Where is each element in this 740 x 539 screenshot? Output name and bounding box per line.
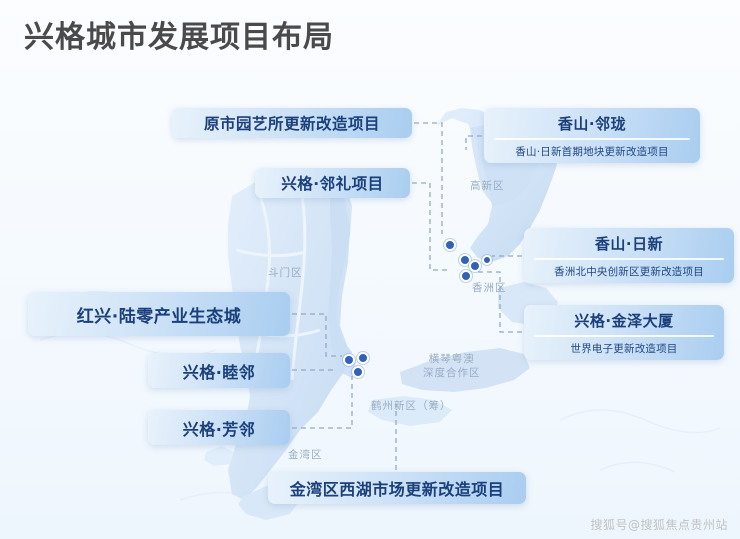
- project-label-title: 香山·日新: [534, 233, 724, 258]
- region-label-xiangzhou: 香洲区: [472, 280, 507, 295]
- project-label-title: 兴格·金泽大厦: [534, 310, 714, 335]
- project-label-title: 兴格·邻礼项目: [281, 172, 383, 194]
- project-label-xiangshan-rixin[interactable]: 香山·日新 香洲北中央创新区更新改造项目: [524, 228, 734, 283]
- region-label-hengqin-line1: 横琴粤澳: [423, 352, 481, 366]
- project-label-hongxing-luling[interactable]: 红兴·陆零产业生态城: [28, 292, 290, 336]
- map-marker[interactable]: [469, 260, 481, 272]
- map-marker[interactable]: [460, 270, 472, 282]
- project-label-xingge-jinze[interactable]: 兴格·金泽大厦 世界电子更新改造项目: [524, 305, 724, 360]
- project-label-xingge-lingli[interactable]: 兴格·邻礼项目: [255, 168, 410, 198]
- infographic-root: 高新区 斗门区 香洲区 横琴粤澳 深度合作区 鹤州新区（筹） 金湾区 兴格城市发…: [0, 0, 740, 539]
- region-label-hengqin: 横琴粤澳 深度合作区: [423, 352, 481, 380]
- project-label-title: 香山·邻珑: [494, 113, 690, 138]
- page-title: 兴格城市发展项目布局: [24, 12, 334, 56]
- map-marker[interactable]: [343, 354, 355, 366]
- project-label-xingge-fanglin[interactable]: 兴格·芳邻: [148, 410, 290, 445]
- project-label-title: 金湾区西湖市场更新改造项目: [290, 476, 505, 500]
- project-label-title: 兴格·睦邻: [183, 359, 256, 383]
- project-label-xiangshan-linglong[interactable]: 香山·邻珑 香山·日新首期地块更新改造项目: [484, 108, 700, 163]
- map-marker[interactable]: [357, 352, 369, 364]
- project-label-jinwan-xihu[interactable]: 金湾区西湖市场更新改造项目: [268, 472, 526, 504]
- project-label-title: 原市园艺所更新改造项目: [204, 112, 380, 134]
- map-marker[interactable]: [352, 366, 364, 378]
- region-label-jinwan: 金湾区: [288, 447, 323, 462]
- project-label-subtitle: 香山·日新首期地块更新改造项目: [494, 144, 690, 159]
- project-label-subtitle: 世界电子更新改造项目: [534, 341, 714, 356]
- project-label-title: 红兴·陆零产业生态城: [77, 302, 241, 327]
- map-marker[interactable]: [444, 239, 456, 251]
- project-label-title: 兴格·芳邻: [183, 416, 256, 440]
- label-divider: [534, 335, 714, 337]
- project-label-yuanshi-yuanyi[interactable]: 原市园艺所更新改造项目: [172, 108, 412, 138]
- project-label-xingge-mulin[interactable]: 兴格·睦邻: [148, 353, 290, 388]
- region-label-hezhou: 鹤州新区（筹）: [371, 398, 452, 413]
- map-marker[interactable]: [482, 255, 492, 265]
- region-label-gaoxin: 高新区: [470, 178, 505, 193]
- label-divider: [494, 138, 690, 140]
- label-divider: [534, 258, 724, 260]
- region-label-hengqin-line2: 深度合作区: [423, 366, 481, 380]
- watermark-text: 搜狐号@搜狐焦点贵州站: [590, 516, 728, 533]
- project-label-subtitle: 香洲北中央创新区更新改造项目: [534, 264, 724, 279]
- region-label-doumen: 斗门区: [268, 265, 303, 280]
